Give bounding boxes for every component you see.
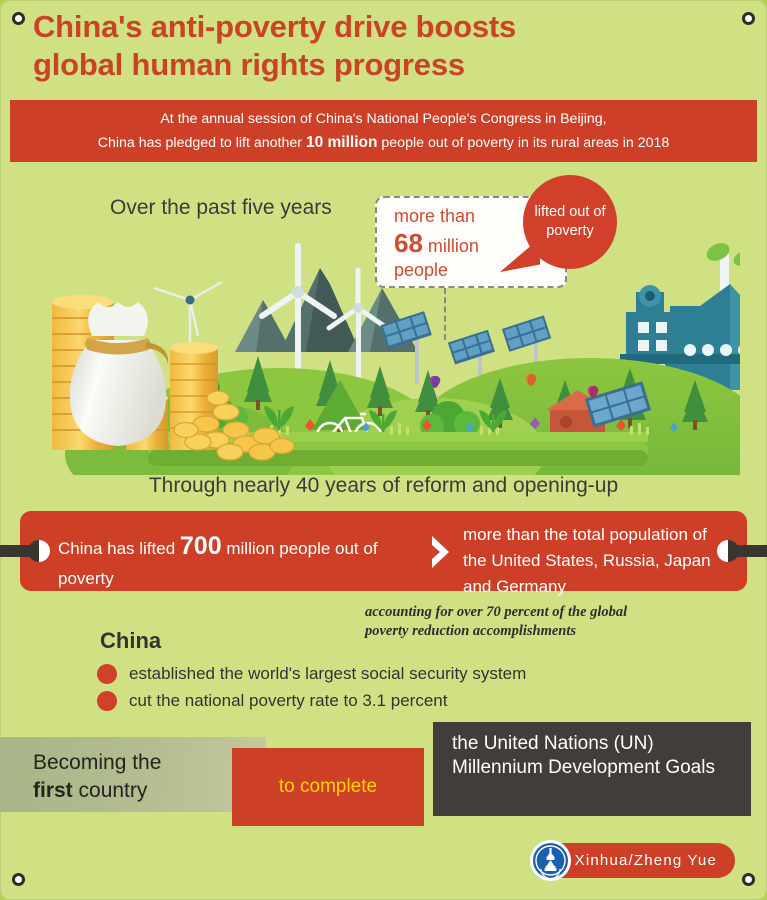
becoming-first-country-block: Becoming the first country	[0, 737, 266, 812]
bubble-unit: million	[423, 236, 479, 256]
title-line-1: China's anti-poverty drive boosts	[33, 9, 516, 44]
chevron-right-icon	[429, 536, 455, 568]
ribbon-text: At the annual session of China's Nationa…	[0, 109, 767, 154]
ribbon-line-2: China has pledged to lift another 10 mil…	[0, 131, 767, 155]
list-item: established the world's largest social s…	[97, 660, 526, 687]
china-achievements-list: established the world's largest social s…	[97, 660, 526, 714]
screw-top-right-icon	[742, 12, 755, 25]
screw-bottom-right-icon	[742, 873, 755, 886]
title-line-2: global human rights progress	[33, 46, 693, 84]
red-bar-left-pre: China has lifted	[58, 539, 180, 558]
pin-right-icon	[723, 545, 767, 557]
screw-top-left-icon	[12, 12, 25, 25]
page-title: China's anti-poverty drive boosts global…	[33, 8, 693, 84]
to-complete-label: to complete	[279, 776, 377, 798]
ribbon-line-2-pre: China has pledged to lift another	[98, 135, 306, 151]
subtitle-ribbon: At the annual session of China's Nationa…	[0, 100, 767, 162]
circle-callout-lifted-out-of-poverty: lifted out of poverty	[523, 175, 617, 269]
reform-label: Through nearly 40 years of reform and op…	[0, 474, 767, 498]
red-bar-left-number: 700	[180, 532, 222, 560]
bubble-number-row: 68 million	[394, 228, 479, 259]
credit-badge: Xinhua/Zheng Yue	[533, 843, 735, 878]
list-item: cut the national poverty rate to 3.1 per…	[97, 687, 526, 714]
olive-bold: first	[33, 779, 73, 802]
china-section-heading: China	[100, 628, 161, 654]
bubble-pointer-line	[444, 288, 446, 340]
bubble-line-1: more than	[394, 206, 475, 227]
bubble-line-3: people	[394, 260, 448, 281]
circle-callout-text: lifted out of poverty	[523, 203, 617, 240]
list-item-label: cut the national poverty rate to 3.1 per…	[129, 691, 447, 711]
ribbon-line-1: At the annual session of China's Nationa…	[0, 109, 767, 131]
bubble-number: 68	[394, 228, 423, 258]
five-years-label: Over the past five years	[110, 196, 332, 220]
un-millennium-goals-text: the United Nations (UN) Millennium Devel…	[452, 732, 742, 781]
olive-block-text: Becoming the first country	[33, 749, 161, 805]
red-bar-left-text: China has lifted 700 million people out …	[58, 527, 428, 592]
olive-pre: Becoming the	[33, 751, 161, 774]
red-bar-right-text: more than the total population of the Un…	[463, 522, 733, 599]
to-complete-block: to complete	[232, 748, 424, 826]
olive-post: country	[73, 779, 148, 802]
ribbon-line-2-post: people out of poverty in its rural areas…	[377, 135, 669, 151]
red-statistic-bar: China has lifted 700 million people out …	[20, 511, 747, 591]
pin-left-icon	[0, 545, 44, 557]
un-millennium-goals-block: the United Nations (UN) Millennium Devel…	[433, 722, 751, 816]
screw-bottom-left-icon	[12, 873, 25, 886]
accounting-note: accounting for over 70 percent of the gl…	[365, 603, 695, 642]
accounting-note-line-2: poverty reduction accomplishments	[365, 622, 695, 641]
ribbon-line-2-bold: 10 million	[306, 134, 378, 151]
accounting-note-line-1: accounting for over 70 percent of the gl…	[365, 603, 695, 622]
bullet-dot-icon	[97, 691, 117, 711]
infographic-poster: China's anti-poverty drive boosts global…	[0, 0, 767, 900]
list-item-label: established the world's largest social s…	[129, 664, 526, 684]
xinhua-logo-icon	[530, 840, 571, 881]
bullet-dot-icon	[97, 664, 117, 684]
credit-text: Xinhua/Zheng Yue	[575, 852, 717, 869]
